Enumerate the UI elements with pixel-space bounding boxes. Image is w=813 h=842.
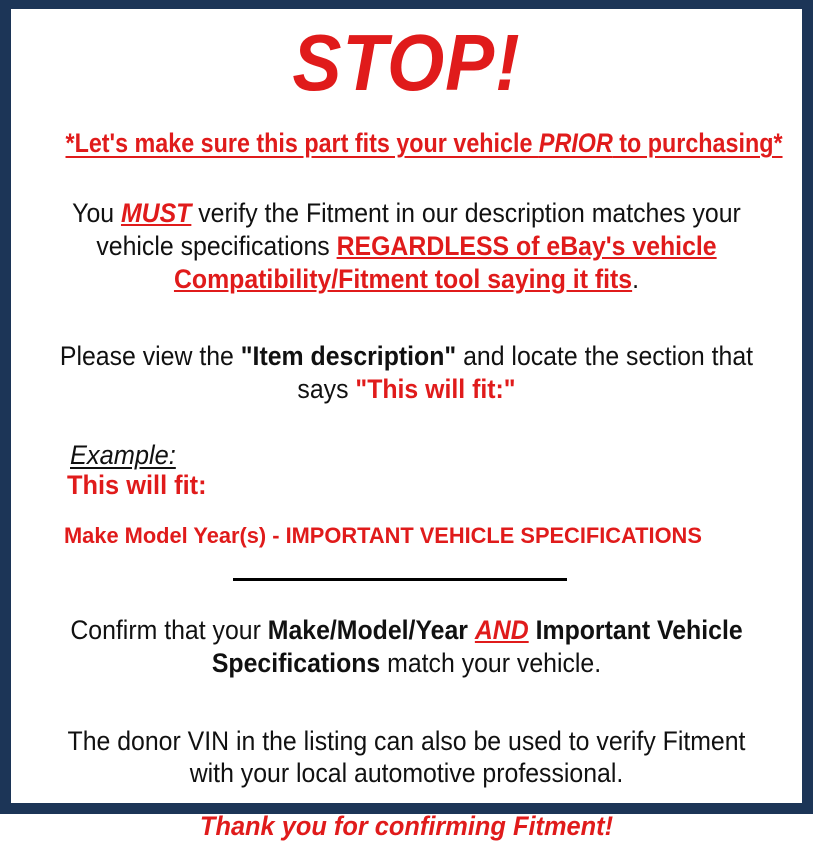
view-text-part1: Please view the: [60, 341, 241, 371]
confirm-text-part1: Confirm that your: [70, 615, 267, 645]
subtitle-suffix: to purchasing*: [613, 128, 783, 158]
closing-thank-you: Thank you for confirming Fitment!: [42, 812, 771, 842]
example-fit-heading: This will fit:: [67, 471, 750, 499]
fitment-notice-body: STOP! *Let's make sure this part fits yo…: [11, 9, 802, 803]
paragraph-donor-vin: The donor VIN in the listing can also be…: [50, 725, 763, 791]
divider-wrapper: [19, 578, 794, 582]
and-emphasis: AND: [475, 615, 529, 645]
item-description-emphasis: "Item description": [241, 341, 456, 371]
paragraph-item-description: Please view the "Item description" and l…: [50, 340, 763, 406]
must-text-part1: You: [72, 198, 121, 228]
stop-headline: STOP!: [50, 9, 763, 103]
example-label-row: Example:: [64, 442, 794, 471]
must-emphasis: MUST: [121, 198, 191, 228]
confirm-text-part2: [468, 615, 475, 645]
fitment-notice-frame: STOP! *Let's make sure this part fits yo…: [0, 0, 813, 814]
this-will-fit-quote: "This will fit:": [355, 374, 515, 404]
subtitle-prefix: *Let's make sure this part fits your veh…: [66, 128, 539, 158]
subtitle-emphasis-prior: PRIOR: [539, 128, 613, 158]
paragraph-must-verify: You MUST verify the Fitment in our descr…: [50, 197, 763, 296]
section-divider: [233, 578, 567, 581]
example-block: Example: This will fit: Make Model Year(…: [19, 442, 794, 548]
subtitle-line: *Let's make sure this part fits your veh…: [66, 129, 748, 158]
confirm-text-part4: match your vehicle.: [380, 648, 601, 678]
must-text-part3: .: [632, 264, 639, 294]
paragraph-confirm: Confirm that your Make/Model/Year AND Im…: [50, 614, 763, 680]
confirm-text-part3: [529, 615, 536, 645]
example-spec-line: Make Model Year(s) - IMPORTANT VEHICLE S…: [64, 525, 772, 548]
make-model-year-emphasis: Make/Model/Year: [268, 615, 468, 645]
example-label: Example:: [70, 442, 176, 469]
